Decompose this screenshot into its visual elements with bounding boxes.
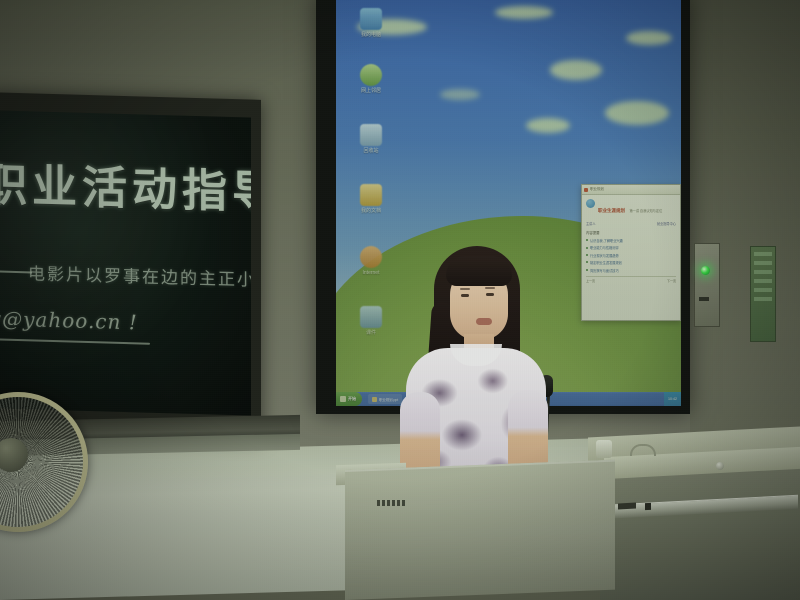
blackboard-frame: 职业活动指导月 电影片以罗事在边的主正小 w@yahoo.cn ! (0, 92, 261, 440)
start-button[interactable]: 开始 (336, 392, 362, 406)
dialog-subheading: 第一讲 自我认知与定位 (629, 209, 662, 213)
taskbar-item-label: 职业规划.ppt (379, 397, 398, 402)
eyebrow-left (460, 288, 470, 290)
lectern-logo (377, 500, 407, 506)
desktop-icon-label: 回收站 (348, 148, 394, 154)
eye-right (486, 293, 494, 296)
desktop-icon-label: 网上邻居 (348, 88, 394, 94)
xp-dialog-window[interactable]: 职业规划 职业生涯规划 第一讲 自我认知与定位 主讲人 就业指导中心 内容 (581, 184, 681, 321)
wall-notice-sign (750, 246, 776, 342)
teaching-lectern (345, 460, 615, 600)
eye-left (461, 294, 469, 297)
sign-line (754, 297, 772, 301)
chalk-dash (0, 270, 32, 273)
sign-line (754, 279, 772, 283)
cloud-shape (440, 89, 480, 100)
blackboard-email-text: w@yahoo.cn ! (0, 306, 184, 336)
blackboard-line2-text: 电影片以罗事在边的主正小 (28, 259, 251, 291)
desktop-icon-label: 我的电脑 (348, 32, 394, 38)
cloud-shape (526, 118, 570, 133)
desktop-icon-label: 课件 (348, 330, 394, 336)
list-item: 简历撰写与面试技巧 (586, 268, 676, 273)
blackboard-surface: 职业活动指导月 电影片以罗事在边的主正小 w@yahoo.cn ! (0, 110, 251, 415)
recycle-bin-icon (360, 124, 382, 146)
dialog-meta-left: 主讲人 (586, 221, 596, 226)
classroom-photo-scene: 职业活动指导月 电影片以罗事在边的主正小 w@yahoo.cn ! 我的电脑 (0, 0, 800, 600)
av-control-panel[interactable] (694, 243, 720, 327)
chalk-underline (0, 338, 150, 344)
desktop-icon-1[interactable]: 网上邻居 (348, 64, 394, 94)
dialog-bullet-list: 认识自我,了解职业兴趣 职业能力与性格测评 行业现状与发展趋势 制定职业生涯发展… (586, 238, 676, 273)
clock-text: 10:42 (668, 397, 677, 401)
desktop-icon-0[interactable]: 我的电脑 (348, 8, 394, 38)
dialog-title-text: 职业规划 (590, 187, 604, 192)
cloud-shape (550, 60, 602, 80)
list-item: 职业能力与性格测评 (586, 245, 676, 250)
dialog-footer: 上一页 下一页 (586, 276, 676, 283)
blackboard-title-text: 职业活动指导月 (0, 148, 251, 221)
cloud-shape (626, 31, 672, 45)
sign-line (754, 261, 772, 265)
start-button-label: 开始 (348, 396, 356, 402)
dialog-meta-row: 主讲人 就业指导中心 (586, 221, 676, 226)
sign-line (754, 270, 772, 274)
lectern-knob (596, 440, 612, 458)
app-icon (584, 188, 588, 192)
dialog-titlebar[interactable]: 职业规划 (582, 185, 680, 195)
dialog-body: 职业生涯规划 第一讲 自我认知与定位 主讲人 就业指导中心 内容提要 认识自我,… (582, 195, 680, 287)
sign-line (754, 288, 772, 292)
sign-line (754, 252, 772, 256)
windows-flag-icon (340, 396, 346, 402)
power-indicator-led (701, 266, 710, 275)
list-item: 行业现状与发展趋势 (586, 253, 676, 258)
desktop-icon-5[interactable]: 课件 (348, 306, 394, 336)
tray-notch (618, 503, 636, 510)
my-documents-icon (360, 184, 382, 206)
desktop-icon-2[interactable]: 回收站 (348, 124, 394, 154)
list-item: 认识自我,了解职业兴趣 (586, 238, 676, 243)
desktop-icon-label: 我的文档 (348, 208, 394, 214)
control-panel-slot (699, 297, 709, 301)
dialog-header: 职业生涯规划 第一讲 自我认知与定位 (586, 199, 676, 217)
mouth (476, 318, 492, 325)
hair-fringe (446, 256, 512, 286)
folder-icon (360, 306, 382, 328)
eyebrow-right (485, 287, 495, 289)
cloud-shape (605, 101, 669, 125)
powerpoint-icon (372, 397, 377, 402)
network-icon (360, 64, 382, 86)
prev-page-link[interactable]: 上一页 (586, 279, 595, 283)
list-item: 制定职业生涯发展规划 (586, 260, 676, 265)
my-computer-icon (360, 8, 382, 30)
internet-explorer-icon (360, 246, 382, 268)
desktop-icon-label: Internet (348, 270, 394, 276)
info-badge-icon (586, 199, 595, 208)
lectern-screw (716, 462, 724, 470)
lectern-handle[interactable] (630, 444, 656, 456)
desktop-icon-4[interactable]: Internet (348, 246, 394, 276)
dialog-meta-right: 就业指导中心 (657, 221, 676, 226)
dialog-heading: 职业生涯规划 (598, 208, 625, 213)
system-tray[interactable]: 10:42 (664, 392, 681, 406)
desktop-icon-3[interactable]: 我的文档 (348, 184, 394, 214)
dialog-section-label: 内容提要 (586, 230, 676, 235)
tray-latch[interactable] (645, 503, 651, 510)
right-wall-panel (690, 0, 800, 470)
next-page-link[interactable]: 下一页 (667, 279, 676, 283)
